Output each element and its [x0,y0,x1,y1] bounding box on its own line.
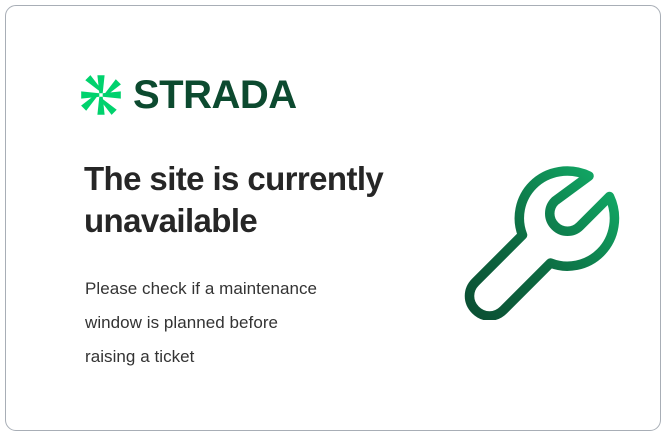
status-description: Please check if a maintenance window is … [85,272,415,374]
brand-wordmark: STRADA [133,75,297,115]
status-card: STRADA The site is currently unavailable… [5,5,661,431]
page-title: The site is currently unavailable [84,158,414,241]
wrench-icon [458,154,624,320]
status-description-line: Please check if a maintenance [85,272,415,306]
maintenance-page: STRADA The site is currently unavailable… [0,0,666,436]
strada-asterisk-icon [80,74,122,116]
status-description-line: raising a ticket [85,340,415,374]
status-description-line: window is planned before [85,306,415,340]
brand-lockup: STRADA [80,72,297,118]
